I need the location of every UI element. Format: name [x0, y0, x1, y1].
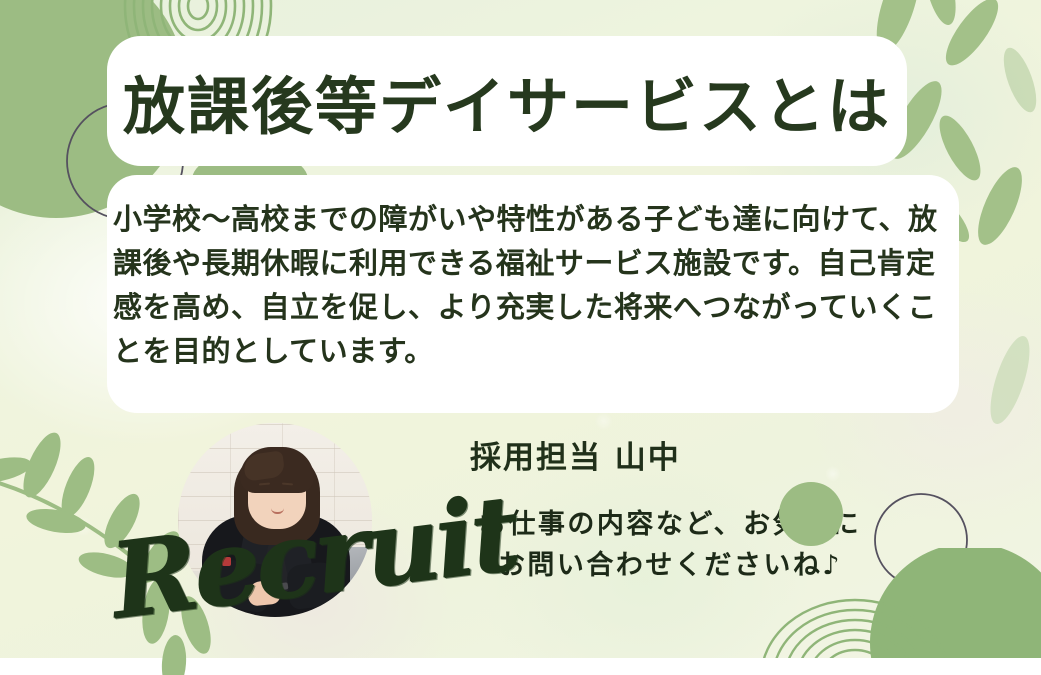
- page-title: 放課後等デイサービスとは: [107, 36, 907, 166]
- eye-left: [261, 489, 268, 492]
- poster-canvas: 放課後等デイサービスとは 小学校〜高校までの障がいや特性がある子ども達に向けて、…: [0, 0, 1041, 675]
- eye-right: [284, 489, 291, 492]
- bottom-white-strip: [0, 658, 1041, 675]
- description-text: 小学校〜高校までの障がいや特性がある子ども達に向けて、放課後や長期休暇に利用でき…: [113, 197, 953, 373]
